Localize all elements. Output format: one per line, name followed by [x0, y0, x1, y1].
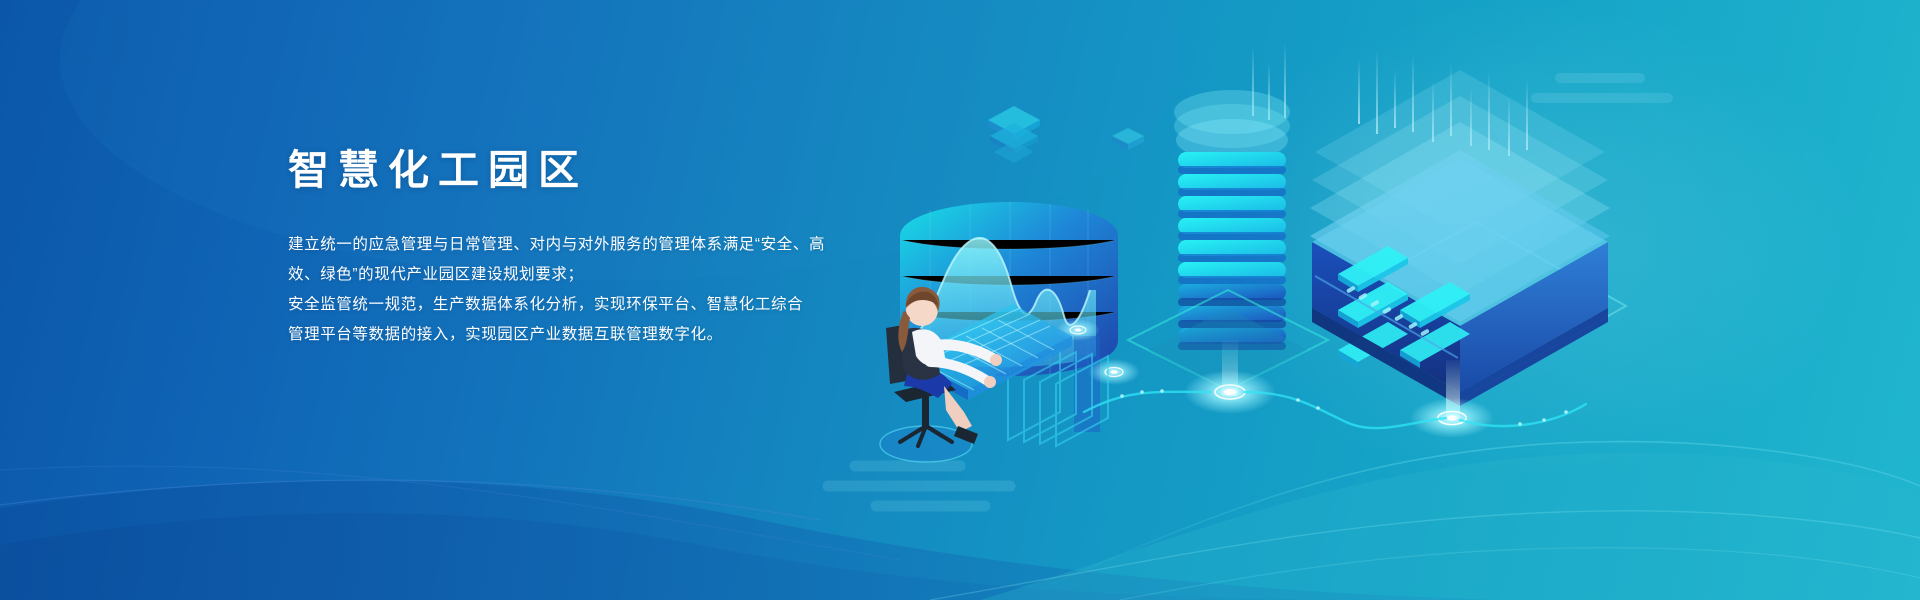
wave-right-line-3	[1120, 548, 1920, 600]
wave-line-left-2	[0, 466, 900, 560]
wave-bottom-left-2	[0, 513, 1420, 600]
floating-cube-small	[1112, 128, 1144, 150]
description-line-3: 安全监管统一规范，生产数据体系化分析，实现环保平台、智慧化工综合	[288, 290, 888, 320]
page-title: 智慧化工园区	[288, 148, 888, 194]
description-line-4: 管理平台等数据的接入，实现园区产业数据互联管理数字化。	[288, 320, 888, 350]
wave-right-line-2	[930, 511, 1920, 600]
wave-right-fill	[980, 453, 1920, 600]
hero-banner: 智慧化工园区 建立统一的应急管理与日常管理、对内与对外服务的管理体系满足“安全、…	[0, 0, 1920, 600]
wave-line-left	[0, 480, 820, 520]
banner-description: 建立统一的应急管理与日常管理、对内与对外服务的管理体系满足“安全、高 效、绿色”…	[288, 230, 888, 350]
description-line-2: 效、绿色”的现代产业园区建设规划要求；	[288, 260, 888, 290]
hero-illustration	[860, 40, 1620, 470]
floating-layer-cube	[988, 106, 1040, 163]
banner-copy: 智慧化工园区 建立统一的应急管理与日常管理、对内与对外服务的管理体系满足“安全、…	[288, 148, 888, 350]
description-line-1: 建立统一的应急管理与日常管理、对内与对外服务的管理体系满足“安全、高	[288, 230, 888, 260]
wave-bottom-left	[0, 481, 1500, 600]
cloud-arc-group	[828, 466, 1010, 506]
circuit-connectors	[1084, 392, 1586, 428]
